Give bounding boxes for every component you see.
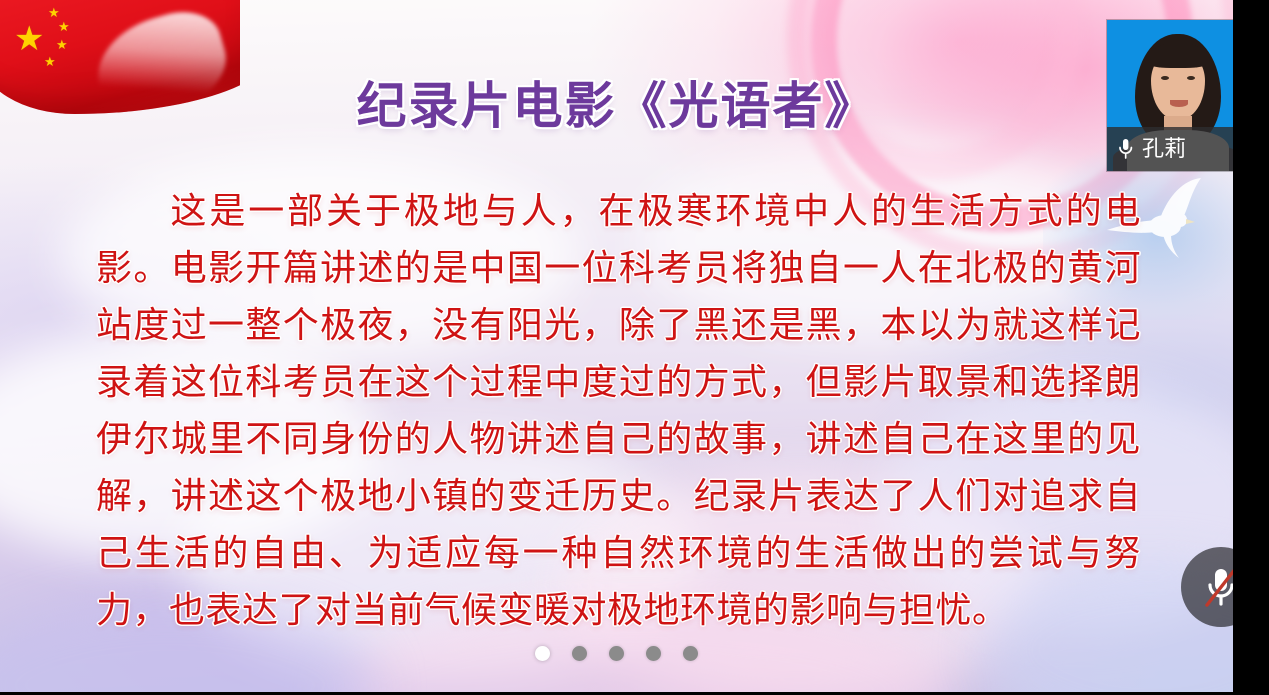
participant-video-tile[interactable]: 孔莉: [1107, 20, 1249, 171]
flag-star-icon: ★: [14, 22, 44, 56]
pagination-dot-5[interactable]: [683, 646, 698, 661]
pagination-dot-2[interactable]: [572, 646, 587, 661]
flag-star-icon: ★: [48, 6, 60, 19]
slide-pagination[interactable]: [0, 646, 1233, 661]
pagination-dot-1[interactable]: [535, 646, 550, 661]
slide-body-text: 这是一部关于极地与人，在极寒环境中人的生活方式的电影。电影开篇讲述的是中国一位科…: [96, 182, 1141, 638]
shared-slide[interactable]: ★ ★ ★ ★ ★ 纪录片电影《光语者》 这是一部关于极地与人，在极寒环境中人的…: [0, 0, 1233, 695]
participant-name: 孔莉: [1142, 138, 1186, 160]
pagination-dot-4[interactable]: [646, 646, 661, 661]
slide-title: 纪录片电影《光语者》: [0, 66, 1233, 138]
participant-name-bar: 孔莉: [1107, 127, 1249, 171]
slide-paragraph: 这是一部关于极地与人，在极寒环境中人的生活方式的电影。电影开篇讲述的是中国一位科…: [96, 190, 1141, 630]
flag-star-icon: ★: [58, 20, 70, 33]
pagination-dot-3[interactable]: [609, 646, 624, 661]
flag-star-icon: ★: [56, 38, 68, 51]
letterbox-right: [1233, 0, 1269, 695]
microphone-icon: [1118, 138, 1133, 160]
meeting-stage: ★ ★ ★ ★ ★ 纪录片电影《光语者》 这是一部关于极地与人，在极寒环境中人的…: [0, 0, 1269, 695]
